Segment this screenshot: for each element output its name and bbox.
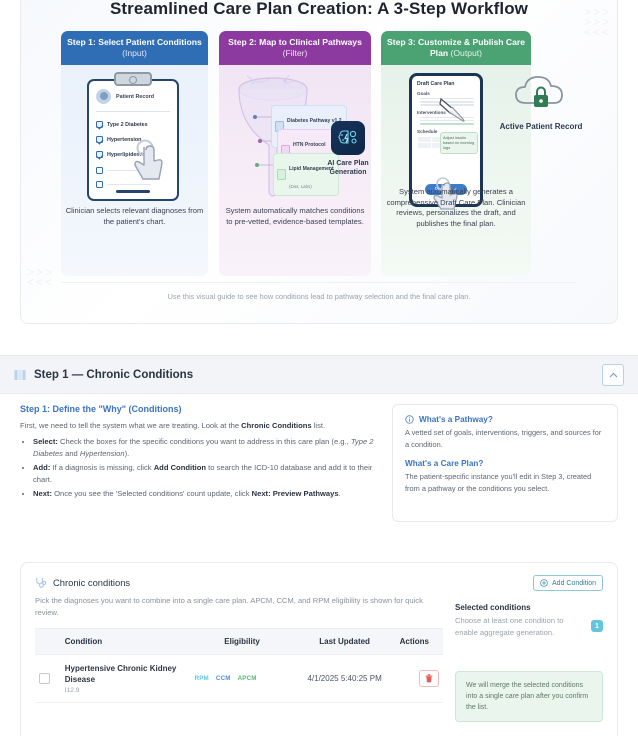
bullet-text-b: . (339, 489, 341, 498)
column-header-last-updated: Last Updated (294, 629, 396, 655)
chevron-up-icon (609, 372, 618, 378)
page-root: >>>>>><<< >>><<< Streamlined Care Plan C… (0, 0, 638, 736)
guidance-heading: Step 1: Define the "Why" (Conditions) (20, 404, 380, 414)
pathway-question-label: What's a Pathway? (419, 415, 493, 424)
merge-note-box: We will merge the selected conditions in… (455, 671, 603, 722)
active-patient-record-block: Active Patient Record (493, 71, 589, 132)
column-header-eligibility: Eligibility (191, 629, 294, 655)
add-condition-label: Add Condition (552, 580, 596, 587)
columns-icon (14, 369, 26, 381)
step-3-header-light: (Output) (451, 48, 483, 58)
step-2-illustration: Diabetes Pathway v1.2 (Goals, Interventi… (219, 65, 371, 233)
pathway-name: HTN Protocol (293, 142, 326, 148)
step-3-header: Step 3: Customize & Publish Care Plan (O… (381, 31, 531, 65)
guidance-bullet-add: Add: If a diagnosis is missing, click Ad… (33, 462, 380, 486)
conditions-subtitle: Pick the diagnoses you want to combine i… (35, 595, 443, 619)
definitions-info-card: What's a Pathway? A vetted set of goals,… (392, 404, 618, 522)
conditions-title: Chronic conditions (53, 577, 130, 588)
pathway-question-heading: What's a Pathway? (405, 415, 605, 424)
row-checkbox[interactable] (39, 673, 50, 684)
conditions-table-block: Chronic conditions Pick the diagnoses yo… (35, 577, 443, 703)
condition-icd-code: I12.9 (65, 687, 187, 694)
draft-care-plan-title: Draft Care Plan (417, 81, 480, 87)
selected-conditions-heading: Selected conditions (455, 603, 603, 612)
bullet-label: Add: (33, 463, 50, 472)
step-1-header: Step 1: Select Patient Conditions (Input… (61, 31, 208, 65)
infographic-steps: Step 1: Select Patient Conditions (Input… (61, 31, 579, 276)
step-2-header-light: (Filter) (283, 48, 308, 58)
infographic-step-3: Step 3: Customize & Publish Care Plan (O… (381, 31, 531, 276)
guidance-intro-strong: Chronic Conditions (241, 421, 311, 430)
step-1-header-light: (Input) (122, 48, 147, 58)
guidance-row: Step 1: Define the "Why" (Conditions) Fi… (20, 404, 618, 522)
step-1-caption: Clinician selects relevant diagnoses fro… (65, 206, 204, 227)
document-icon (277, 169, 286, 180)
clipboard-check-row: Type 2 Diabetes (96, 121, 148, 128)
step-1-section-header[interactable]: Step 1 — Chronic Conditions (0, 355, 638, 394)
step-1-illustration: Patient Record Type 2 Diabetes Hypertens… (61, 65, 208, 233)
bullet-text-a: If a diagnosis is missing, click (50, 463, 153, 472)
infographic-title: Streamlined Care Plan Creation: A 3-Step… (21, 0, 617, 19)
row-actions-cell (396, 655, 443, 703)
step-2-header: Step 2: Map to Clinical Pathways (Filter… (219, 31, 371, 65)
checkbox-icon (96, 167, 103, 174)
bullet-strong: Add Condition (154, 463, 206, 472)
column-header-condition: Condition (61, 629, 191, 655)
guidance-intro-a: First, we need to tell the system what w… (20, 421, 241, 430)
badge-ccm: CCM (216, 675, 231, 682)
section-title: Step 1 — Chronic Conditions (34, 369, 193, 381)
conditions-title-row: Chronic conditions (35, 577, 443, 588)
guidance-text-block: Step 1: Define the "Why" (Conditions) Fi… (20, 404, 380, 522)
clipboard-empty-row (96, 181, 151, 188)
table-header-row: Condition Eligibility Last Updated Actio… (35, 629, 443, 655)
row-eligibility-cell: RPM CCM APCM (191, 655, 294, 703)
delete-condition-button[interactable] (419, 670, 439, 687)
ai-brain-chip-icon (331, 121, 365, 155)
checkbox-icon (96, 121, 103, 128)
step-1-header-bold: Step 1: Select Patient Conditions (67, 37, 202, 47)
careplan-question-heading: What's a Care Plan? (405, 459, 605, 468)
selected-conditions-count-badge: 1 (591, 620, 603, 632)
cloud-lock-icon (510, 71, 572, 115)
checkbox-icon (96, 181, 103, 188)
condition-name: Hypertensive Chronic Kidney Disease (65, 663, 187, 685)
checkbox-icon (96, 136, 103, 143)
patient-avatar-icon (96, 89, 111, 104)
infographic-step-2: Step 2: Map to Clinical Pathways (Filter… (219, 31, 371, 276)
info-circle-icon (405, 415, 414, 424)
guidance-intro: First, we need to tell the system what w… (20, 420, 380, 432)
selected-conditions-sidebar: Add Condition Selected conditions Choose… (455, 577, 603, 703)
plus-circle-icon (540, 579, 548, 587)
clipboard-rule (96, 111, 170, 112)
bullet-label: Select: (33, 437, 58, 446)
guidance-bullet-list: Select: Check the boxes for the specific… (20, 436, 380, 500)
careplan-question-label: What's a Care Plan? (405, 459, 483, 468)
chronic-conditions-card: Chronic conditions Pick the diagnoses yo… (20, 562, 618, 736)
selected-conditions-panel: Selected conditions Choose at least one … (455, 603, 603, 639)
step-2-caption: System automatically matches conditions … (223, 206, 367, 227)
bullet-em-b: Hypertension (80, 449, 125, 458)
stethoscope-icon (35, 577, 46, 588)
bullet-text-a: Check the boxes for the specific conditi… (58, 437, 351, 446)
trash-icon (425, 674, 433, 683)
guidance-intro-c: list. (312, 421, 326, 430)
step-3-caption: System automatically generates a compreh… (385, 187, 527, 229)
pathway-answer: A vetted set of goals, interventions, tr… (405, 427, 605, 450)
badge-apcm: APCM (238, 675, 257, 682)
section-collapse-button[interactable] (602, 364, 624, 386)
bullet-text-c: ). (125, 449, 130, 458)
patient-record-label: Patient Record (116, 94, 154, 100)
clipboard-footer-bar (116, 190, 150, 193)
infographic-footer-note: Use this visual guide to see how conditi… (21, 292, 617, 301)
bullet-text-b: and (63, 449, 80, 458)
conditions-table: Condition Eligibility Last Updated Actio… (35, 628, 443, 703)
step-2-header-bold: Step 2: Map to Clinical Pathways (228, 37, 362, 47)
clipboard-clip-icon (114, 72, 152, 86)
workflow-infographic-card: >>>>>><<< >>><<< Streamlined Care Plan C… (20, 0, 618, 324)
guidance-bullet-select: Select: Check the boxes for the specific… (33, 436, 380, 460)
pen-edit-icon (439, 95, 465, 123)
active-patient-record-label: Active Patient Record (493, 122, 589, 132)
selected-conditions-hint: Choose at least one condition to enable … (455, 615, 603, 639)
careplan-answer: The patient-specific instance you'll edi… (405, 471, 605, 494)
clipboard-condition-label: Type 2 Diabetes (107, 122, 148, 128)
badge-rpm: RPM (195, 675, 209, 682)
column-header-actions: Actions (396, 629, 443, 655)
checkbox-icon (96, 151, 103, 158)
bullet-strong: Next: Preview Pathways (252, 489, 339, 498)
guidance-bullet-next: Next: Once you see the 'Selected conditi… (33, 488, 380, 500)
bullet-label: Next: (33, 489, 52, 498)
infographic-divider (61, 282, 577, 283)
table-row[interactable]: Hypertensive Chronic Kidney Disease I12.… (35, 655, 443, 703)
patient-record-header: Patient Record (96, 89, 154, 104)
add-condition-button[interactable]: Add Condition (533, 575, 603, 591)
row-select-cell[interactable] (35, 655, 61, 703)
ai-care-plan-generation-label: AI Care Plan Generation (317, 159, 371, 177)
draft-annotation-note: Adjust insulin based on morning logs (440, 132, 478, 154)
bullet-text-a: Once you see the 'Selected conditions' c… (52, 489, 252, 498)
pathway-meta: (Diet, Labs) (289, 184, 312, 189)
row-last-updated: 4/1/2025 5:40:25 PM (294, 655, 396, 703)
infographic-step-1: Step 1: Select Patient Conditions (Input… (61, 31, 208, 276)
pointing-hand-icon (133, 139, 167, 181)
row-condition-cell: Hypertensive Chronic Kidney Disease I12.… (61, 655, 191, 703)
